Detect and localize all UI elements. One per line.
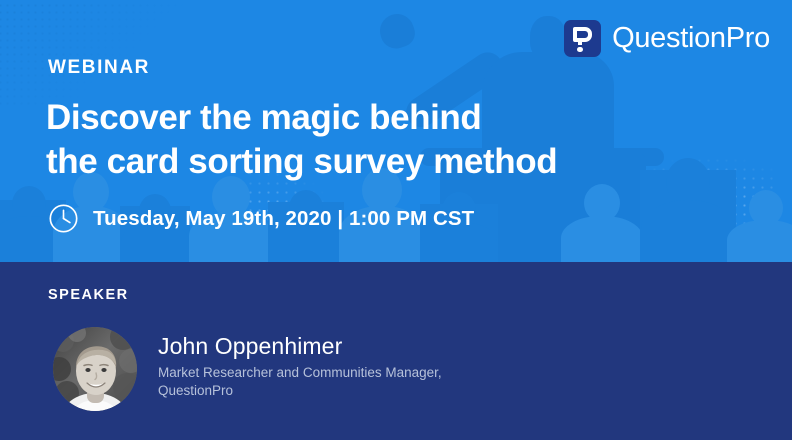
headline-line-2: the card sorting survey method	[46, 140, 557, 184]
speaker-title-line-1: Market Researcher and Communities Manage…	[158, 364, 578, 382]
speaker-info: John Oppenhimer Market Researcher and Co…	[158, 332, 578, 400]
clock-icon	[48, 203, 79, 234]
audience-person	[640, 170, 736, 262]
speaker-portrait-icon	[53, 327, 137, 411]
page-title: Discover the magic behind the card sorti…	[46, 96, 557, 184]
webinar-promo-banner: QuestionPro WEBINAR Discover the magic b…	[0, 0, 792, 440]
audience-person	[560, 196, 644, 262]
webinar-datetime: Tuesday, May 19th, 2020 | 1:00 PM CST	[93, 207, 474, 231]
webinar-eyebrow-label: WEBINAR	[48, 57, 150, 79]
headline-line-1: Discover the magic behind	[46, 96, 557, 140]
speaker-section-label: SPEAKER	[48, 287, 129, 303]
logo-wordmark: QuestionPro	[612, 22, 770, 55]
silhouette-hand	[376, 10, 419, 53]
speaker-bottom-section: SPEAKER	[0, 262, 792, 440]
audience-person	[726, 200, 792, 262]
speaker-title-line-2: QuestionPro	[158, 382, 578, 400]
hero-top-section: QuestionPro WEBINAR Discover the magic b…	[0, 0, 792, 262]
questionmark-logo-icon	[564, 20, 601, 57]
datetime-row: Tuesday, May 19th, 2020 | 1:00 PM CST	[48, 203, 474, 234]
speaker-name: John Oppenhimer	[158, 332, 578, 360]
questionpro-logo[interactable]: QuestionPro	[564, 20, 770, 57]
dot-pattern-top-left-icon	[0, 0, 200, 108]
avatar	[53, 327, 137, 411]
speaker-title: Market Researcher and Communities Manage…	[158, 364, 578, 400]
